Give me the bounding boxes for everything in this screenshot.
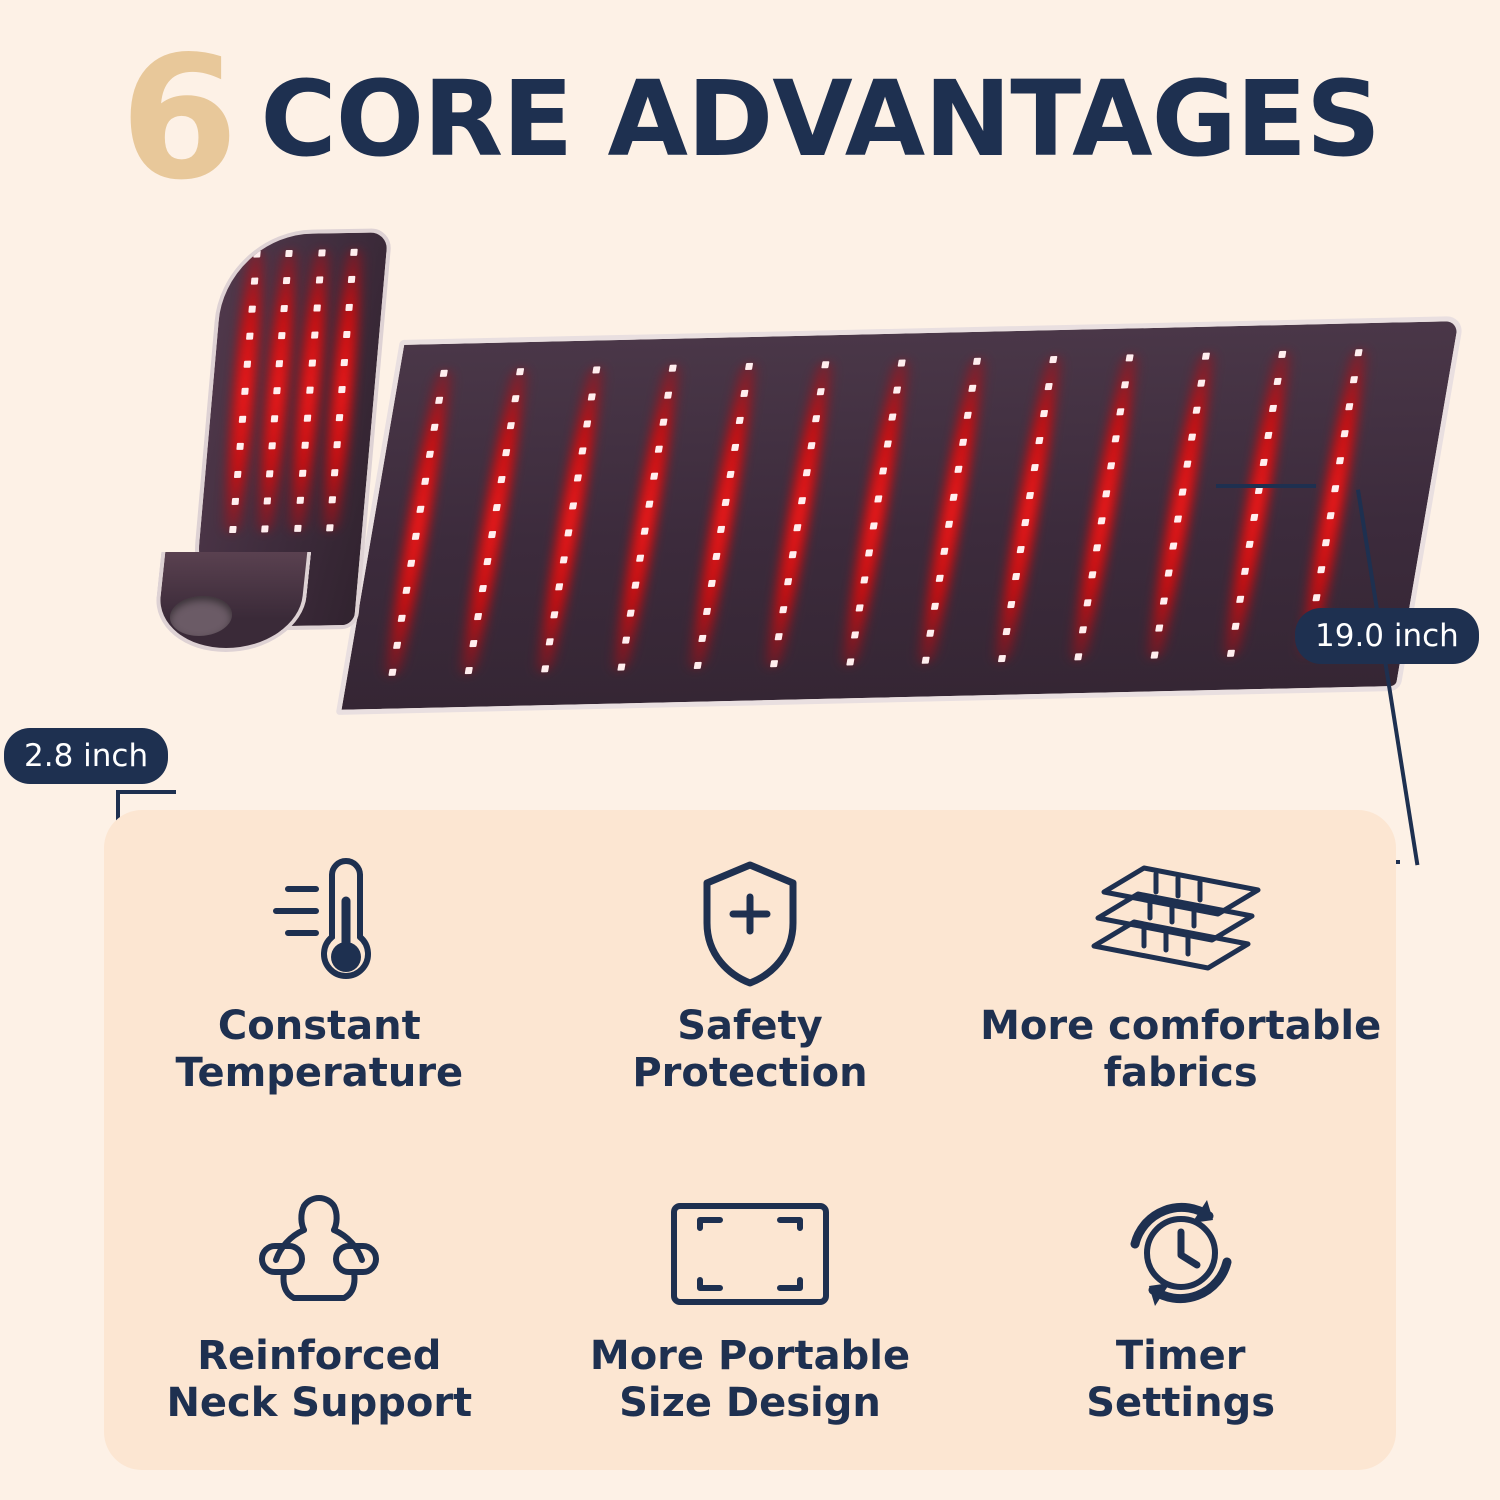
led-dot bbox=[569, 502, 577, 509]
led-dot bbox=[668, 364, 676, 371]
led-dot bbox=[1088, 572, 1096, 579]
neck-support-icon bbox=[244, 1183, 394, 1323]
led-dot bbox=[964, 412, 972, 419]
led-dot bbox=[592, 366, 600, 373]
led-dot bbox=[311, 332, 319, 339]
led-dot bbox=[1036, 437, 1044, 444]
led-dot bbox=[402, 587, 410, 594]
led-dot bbox=[735, 417, 743, 424]
led-dot bbox=[1107, 463, 1115, 470]
led-dot bbox=[440, 369, 448, 376]
led-dot bbox=[1121, 381, 1129, 388]
led-dot bbox=[846, 659, 854, 666]
led-dot bbox=[973, 357, 981, 364]
led-dot bbox=[855, 604, 863, 611]
led-dot bbox=[1031, 464, 1039, 471]
led-dot bbox=[301, 442, 309, 449]
led-dot bbox=[816, 388, 824, 395]
led-dot bbox=[664, 391, 672, 398]
led-dot bbox=[331, 469, 339, 476]
feature-item: Reinforced Neck Support bbox=[104, 1140, 535, 1470]
led-dot bbox=[348, 276, 356, 283]
led-dot bbox=[927, 630, 935, 637]
led-dot bbox=[1155, 624, 1163, 631]
led-dot bbox=[883, 441, 891, 448]
led-dot bbox=[1193, 407, 1201, 414]
led-dot bbox=[1017, 546, 1025, 553]
led-dot bbox=[969, 385, 977, 392]
led-dot bbox=[241, 388, 249, 395]
led-dot bbox=[511, 395, 519, 402]
led-dot bbox=[888, 413, 896, 420]
feature-item: Timer Settings bbox=[965, 1140, 1396, 1470]
led-dot bbox=[745, 362, 753, 369]
led-dot bbox=[955, 466, 963, 473]
led-dot bbox=[878, 468, 886, 475]
led-dot bbox=[869, 522, 877, 529]
led-dot bbox=[283, 277, 291, 284]
led-dot bbox=[812, 415, 820, 422]
feature-label: Reinforced Neck Support bbox=[166, 1333, 472, 1427]
led-dot-column bbox=[1074, 354, 1135, 661]
led-dot bbox=[1117, 408, 1125, 415]
led-dot bbox=[617, 664, 625, 671]
led-dot bbox=[1202, 352, 1210, 359]
led-dot bbox=[931, 602, 939, 609]
led-dot bbox=[1322, 539, 1330, 546]
led-dot bbox=[1313, 594, 1321, 601]
led-dot bbox=[1246, 541, 1254, 548]
led-dot bbox=[426, 451, 434, 458]
led-dot bbox=[1236, 595, 1244, 602]
feature-label: Constant Temperature bbox=[175, 1003, 463, 1097]
led-dot bbox=[821, 361, 829, 368]
led-dot bbox=[631, 582, 639, 589]
led-dot bbox=[412, 533, 420, 540]
led-dot bbox=[474, 613, 482, 620]
led-dot bbox=[338, 386, 346, 393]
led-dot bbox=[1093, 544, 1101, 551]
led-dot-column bbox=[693, 362, 754, 669]
thickness-tick-top bbox=[116, 790, 176, 794]
led-dot bbox=[636, 555, 644, 562]
led-dot bbox=[1112, 436, 1120, 443]
dimension-label-height: 19.0 inch bbox=[1295, 608, 1479, 664]
led-dot bbox=[1079, 626, 1087, 633]
led-dot bbox=[779, 606, 787, 613]
led-dot bbox=[318, 249, 326, 256]
led-dot bbox=[950, 493, 958, 500]
led-dot bbox=[345, 304, 353, 311]
led-dot-column bbox=[845, 359, 906, 666]
led-dot bbox=[1278, 350, 1286, 357]
led-dot bbox=[640, 528, 648, 535]
led-dot bbox=[726, 471, 734, 478]
led-dot bbox=[774, 633, 782, 640]
led-dot bbox=[1264, 432, 1272, 439]
led-dot bbox=[343, 331, 351, 338]
led-dot bbox=[1327, 512, 1335, 519]
led-dot bbox=[1260, 459, 1268, 466]
led-dot bbox=[1183, 461, 1191, 468]
led-dot bbox=[273, 387, 281, 394]
led-dot bbox=[239, 416, 247, 423]
led-dot bbox=[341, 359, 349, 366]
rolled-mat-section bbox=[150, 230, 400, 660]
led-dot bbox=[1003, 628, 1011, 635]
product-illustration: 35.8 inch 19.0 inch 2.8 inch bbox=[0, 200, 1500, 760]
led-dot bbox=[493, 504, 501, 511]
led-dot bbox=[1026, 492, 1034, 499]
led-dot bbox=[784, 579, 792, 586]
led-dot bbox=[793, 524, 801, 531]
led-dot bbox=[1274, 378, 1282, 385]
led-dot bbox=[1269, 405, 1277, 412]
led-dot bbox=[299, 470, 307, 477]
led-dot bbox=[1160, 597, 1168, 604]
led-dot bbox=[650, 473, 658, 480]
led-dot bbox=[545, 638, 553, 645]
led-dot bbox=[731, 444, 739, 451]
led-dot bbox=[231, 498, 239, 505]
led-dot bbox=[945, 521, 953, 528]
led-dot bbox=[488, 531, 496, 538]
led-dot bbox=[1098, 517, 1106, 524]
led-dot bbox=[807, 442, 815, 449]
led-dot bbox=[1074, 653, 1082, 660]
led-dot bbox=[236, 443, 244, 450]
led-dot bbox=[251, 278, 259, 285]
led-dot bbox=[1331, 485, 1339, 492]
led-dot bbox=[1008, 601, 1016, 608]
feature-item: Safety Protection bbox=[535, 810, 966, 1140]
led-dot bbox=[234, 471, 242, 478]
led-dot bbox=[559, 556, 567, 563]
led-dot bbox=[253, 250, 261, 257]
led-dot bbox=[564, 529, 572, 536]
led-dot bbox=[421, 478, 429, 485]
led-dot bbox=[721, 499, 729, 506]
led-dot bbox=[1022, 519, 1030, 526]
led-dot bbox=[1250, 514, 1258, 521]
advantage-count: 6 bbox=[120, 34, 234, 204]
led-dot bbox=[574, 475, 582, 482]
led-dot-column bbox=[921, 357, 982, 664]
thermometer-icon bbox=[254, 853, 384, 993]
led-dot-column bbox=[1150, 352, 1211, 659]
led-dot bbox=[271, 415, 279, 422]
led-dot bbox=[550, 611, 558, 618]
feature-item: More comfortable fabrics bbox=[965, 810, 1396, 1140]
led-dot bbox=[864, 550, 872, 557]
led-dot bbox=[1050, 356, 1058, 363]
led-dot bbox=[770, 660, 778, 667]
led-dot bbox=[578, 448, 586, 455]
led-dot-column bbox=[769, 361, 830, 668]
led-dot bbox=[502, 449, 510, 456]
led-dot bbox=[555, 584, 563, 591]
led-dot-column bbox=[998, 356, 1059, 663]
led-dot-column bbox=[464, 368, 525, 675]
led-dot bbox=[1084, 599, 1092, 606]
led-dot bbox=[266, 470, 274, 477]
led-dot bbox=[922, 657, 930, 664]
led-dot bbox=[435, 397, 443, 404]
led-dot bbox=[703, 607, 711, 614]
led-dot bbox=[469, 640, 477, 647]
led-dot bbox=[350, 248, 358, 255]
feature-label: Timer Settings bbox=[1086, 1333, 1275, 1427]
led-dot bbox=[802, 470, 810, 477]
led-dot bbox=[264, 498, 272, 505]
led-dot bbox=[1188, 434, 1196, 441]
led-dot bbox=[229, 526, 237, 533]
roll-end-cap bbox=[151, 552, 312, 652]
height-tick-top bbox=[1216, 484, 1316, 488]
led-dot bbox=[336, 414, 344, 421]
header: 6 CORE ADVANTAGES bbox=[0, 34, 1500, 204]
led-dot bbox=[936, 575, 944, 582]
led-dot bbox=[407, 560, 415, 567]
shield-plus-icon bbox=[685, 853, 815, 993]
led-dot-column bbox=[540, 366, 601, 673]
led-dot bbox=[333, 441, 341, 448]
led-dot bbox=[1169, 543, 1177, 550]
led-dot bbox=[497, 477, 505, 484]
led-dot bbox=[659, 419, 667, 426]
led-dot bbox=[416, 505, 424, 512]
led-dot bbox=[1227, 650, 1235, 657]
feature-label: More Portable Size Design bbox=[590, 1333, 910, 1427]
led-dot bbox=[1165, 570, 1173, 577]
feature-label: Safety Protection bbox=[632, 1003, 867, 1097]
led-dot bbox=[1040, 410, 1048, 417]
led-dot bbox=[998, 655, 1006, 662]
led-dot bbox=[717, 526, 725, 533]
led-dot bbox=[296, 497, 304, 504]
led-dot bbox=[278, 332, 286, 339]
led-dot bbox=[1151, 652, 1159, 659]
fabric-layers-icon bbox=[1086, 853, 1276, 993]
led-dot bbox=[654, 446, 662, 453]
led-dot bbox=[626, 609, 634, 616]
led-dot bbox=[1232, 623, 1240, 630]
led-dot bbox=[1317, 566, 1325, 573]
led-dot bbox=[1179, 488, 1187, 495]
timer-icon bbox=[1111, 1183, 1251, 1323]
led-dot bbox=[294, 525, 302, 532]
led-glow-area bbox=[342, 321, 1459, 710]
led-dot bbox=[316, 277, 324, 284]
led-dot bbox=[583, 420, 591, 427]
led-dot bbox=[303, 414, 311, 421]
led-dot bbox=[326, 524, 334, 531]
led-dot bbox=[959, 439, 967, 446]
led-dot bbox=[941, 548, 949, 555]
led-dot bbox=[479, 585, 487, 592]
led-dot bbox=[707, 580, 715, 587]
led-dot bbox=[622, 636, 630, 643]
led-dot bbox=[269, 443, 277, 450]
features-grid: Constant Temperature Safety Protection bbox=[104, 810, 1396, 1470]
led-dot bbox=[286, 250, 294, 257]
page-title: CORE ADVANTAGES bbox=[260, 67, 1380, 171]
led-dot bbox=[243, 360, 251, 367]
led-dot bbox=[1350, 376, 1358, 383]
led-dot bbox=[693, 662, 701, 669]
mat-surface bbox=[336, 316, 1465, 715]
led-dot bbox=[541, 665, 549, 672]
feature-item: Constant Temperature bbox=[104, 810, 535, 1140]
led-dot bbox=[798, 497, 806, 504]
led-dot bbox=[308, 359, 316, 366]
led-dot bbox=[276, 360, 284, 367]
led-dot bbox=[850, 631, 858, 638]
led-dot bbox=[1045, 383, 1053, 390]
led-dot-column bbox=[1226, 350, 1287, 657]
led-dot bbox=[1336, 458, 1344, 465]
led-dot bbox=[1197, 379, 1205, 386]
led-dot bbox=[1345, 403, 1353, 410]
led-dot bbox=[430, 424, 438, 431]
led-dot bbox=[329, 497, 337, 504]
led-dot bbox=[313, 304, 321, 311]
led-dot bbox=[1126, 354, 1134, 361]
dimension-label-thickness: 2.8 inch bbox=[4, 728, 168, 784]
led-dot bbox=[1241, 568, 1249, 575]
led-dot bbox=[860, 577, 868, 584]
led-dot bbox=[1355, 349, 1363, 356]
led-dot bbox=[788, 551, 796, 558]
foldable-size-icon bbox=[660, 1183, 840, 1323]
features-card: Constant Temperature Safety Protection bbox=[104, 810, 1396, 1470]
led-dot bbox=[1103, 490, 1111, 497]
led-dot bbox=[588, 393, 596, 400]
led-dot bbox=[281, 305, 289, 312]
led-dot bbox=[712, 553, 720, 560]
led-dot bbox=[465, 667, 473, 674]
led-dot bbox=[874, 495, 882, 502]
led-dot bbox=[388, 669, 396, 676]
led-dot bbox=[483, 558, 491, 565]
led-dot bbox=[740, 390, 748, 397]
led-dot-column bbox=[617, 364, 678, 671]
led-dot bbox=[261, 525, 269, 532]
led-dot bbox=[516, 368, 524, 375]
feature-label: More comfortable fabrics bbox=[980, 1003, 1381, 1097]
feature-item: More Portable Size Design bbox=[535, 1140, 966, 1470]
led-dot bbox=[1174, 515, 1182, 522]
led-dot bbox=[246, 333, 254, 340]
led-dot bbox=[892, 386, 900, 393]
led-dot bbox=[1012, 573, 1020, 580]
led-dot bbox=[645, 500, 653, 507]
led-dot bbox=[698, 635, 706, 642]
led-dot bbox=[507, 422, 515, 429]
led-dot bbox=[1341, 430, 1349, 437]
led-dot bbox=[306, 387, 314, 394]
led-dot bbox=[248, 305, 256, 312]
led-dot bbox=[897, 359, 905, 366]
